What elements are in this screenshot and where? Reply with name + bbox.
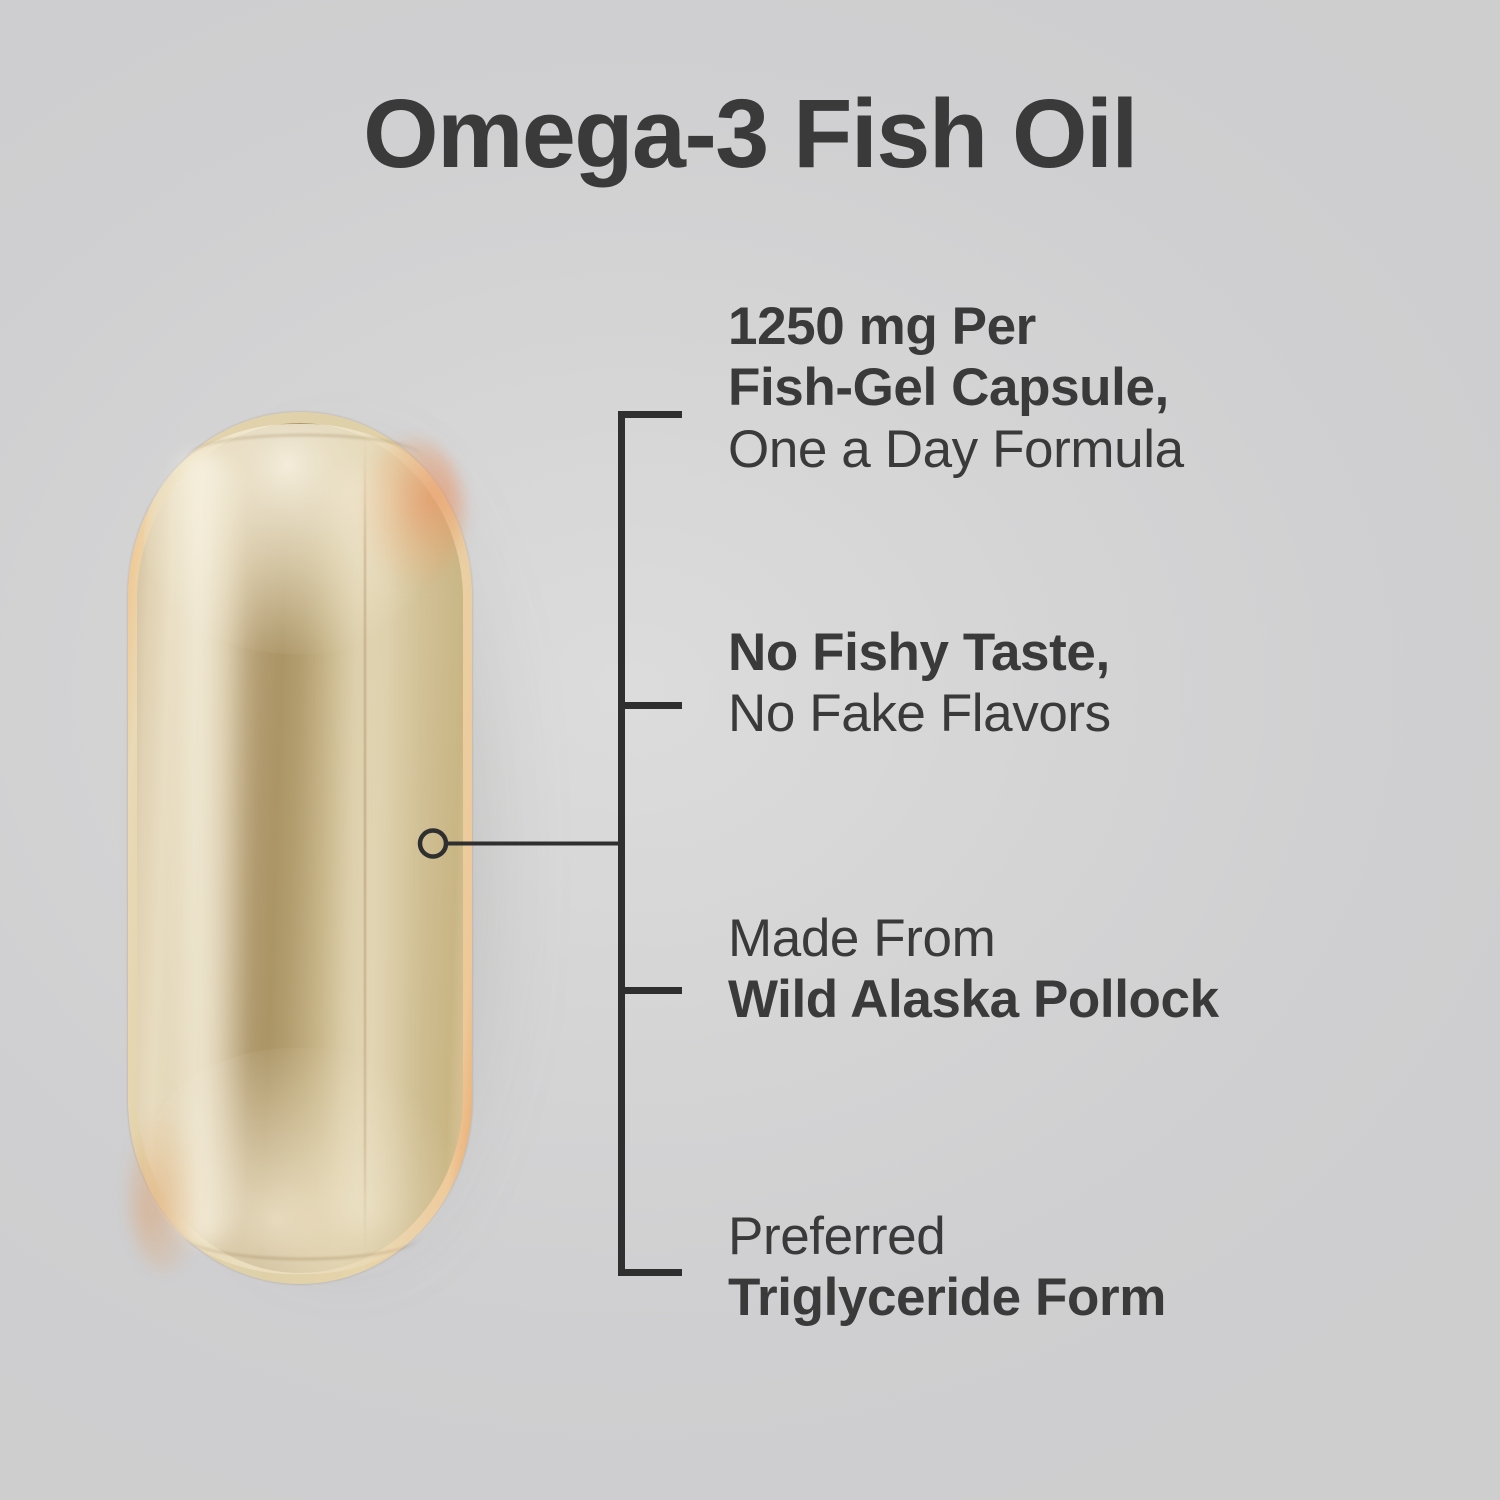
- feature-block-taste: No Fishy Taste, No Fake Flavors: [728, 622, 1111, 745]
- feature-block-dosage: 1250 mg Per Fish-Gel Capsule, One a Day …: [728, 296, 1184, 480]
- capsule-seam-line: [364, 438, 366, 1254]
- feature-line: Wild Alaska Pollock: [728, 969, 1219, 1030]
- feature-block-form: Preferred Triglyceride Form: [728, 1206, 1166, 1329]
- feature-line: One a Day Formula: [728, 419, 1184, 480]
- capsule-rim: [128, 412, 472, 1284]
- capsule-warm-highlight-bottom: [130, 1112, 200, 1272]
- feature-line: Triglyceride Form: [728, 1267, 1166, 1328]
- feature-line: Preferred: [728, 1206, 1166, 1267]
- feature-line: No Fishy Taste,: [728, 622, 1111, 683]
- capsule-crease-bottom: [184, 1210, 422, 1260]
- feature-line: 1250 mg Per: [728, 296, 1184, 357]
- feature-line: Made From: [728, 908, 1219, 969]
- feature-line: Fish-Gel Capsule,: [728, 357, 1184, 418]
- product-infographic: Omega-3 Fish Oil: [0, 0, 1500, 1500]
- page-title: Omega-3 Fish Oil: [0, 84, 1500, 185]
- feature-block-source: Made From Wild Alaska Pollock: [728, 908, 1219, 1031]
- feature-line: No Fake Flavors: [728, 683, 1111, 744]
- capsule-crease-top: [186, 434, 422, 480]
- softgel-capsule-image: [128, 412, 476, 1288]
